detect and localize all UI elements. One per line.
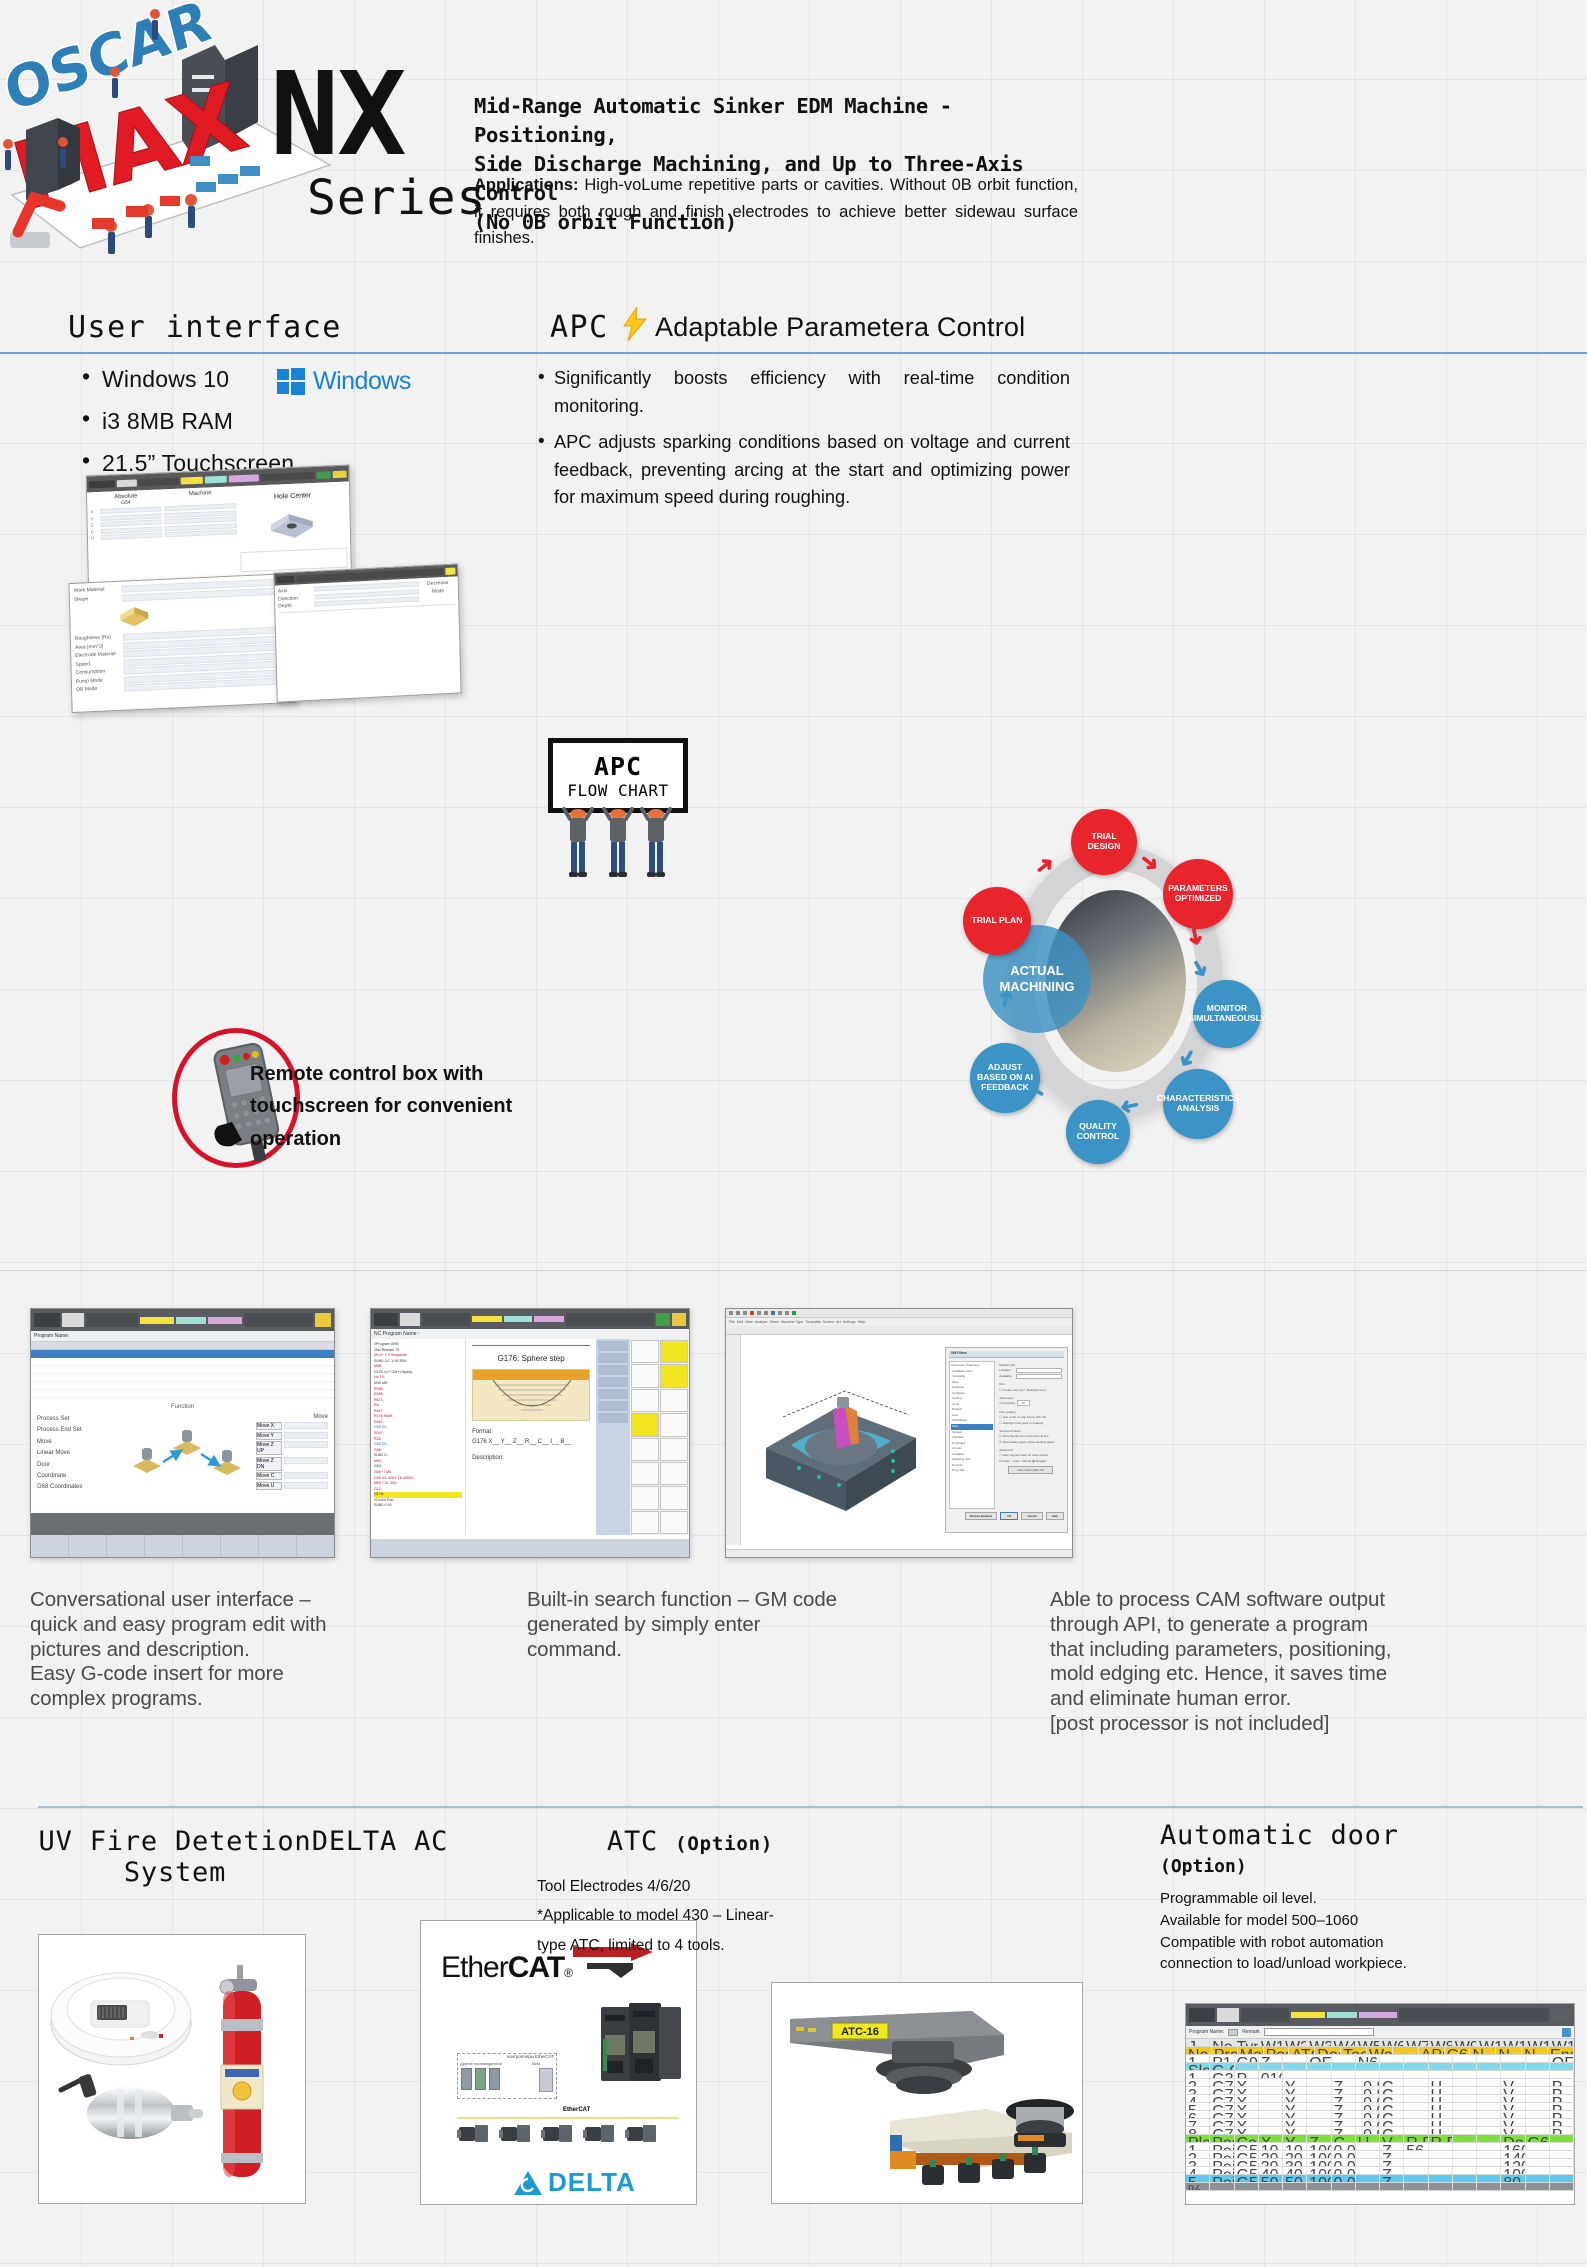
- machine-ui-screenshot-axis: AxisDecrease DirectionMode Depth: [273, 563, 461, 702]
- door-program-name-label: Program Name:: [1189, 2029, 1224, 2035]
- caption-3-line-1: Able to process CAM software output: [1050, 1588, 1570, 1613]
- divider-apc: [540, 352, 1587, 354]
- flow-node-trial-design: TRIAL DESIGN: [1071, 809, 1137, 875]
- door-remark-label: Remark: [1242, 2029, 1260, 2035]
- caption-2-line-3: command.: [527, 1638, 867, 1663]
- caption-1-line-1: Conversational user interface –: [30, 1588, 350, 1613]
- apc-flow-chart-sign: APC FLOW CHART: [548, 738, 688, 813]
- option-atc-notes: Tool Electrodes 4/6/20 *Applicable to mo…: [537, 1872, 827, 1960]
- option-automatic-door-notes: Programmable oil level. Available for mo…: [1160, 1888, 1580, 1975]
- option-title-atc: ATC (Option): [560, 1826, 820, 1857]
- flow-node-characteristics-analysis: CHARACTERISTICS ANALYSIS: [1163, 1069, 1233, 1139]
- spec-item-cpu-ram: i3 8MB RAM: [78, 408, 408, 435]
- section-heading-user-interface: User interface: [68, 310, 342, 345]
- remote-control-caption: Remote control box with touchscreen for …: [250, 1058, 550, 1155]
- option-atc-title: ATC: [607, 1826, 658, 1857]
- apc-bullet-2: APC adjusts sparking conditions based on…: [536, 429, 1070, 513]
- brochure-page: OSCAR MAX: [0, 0, 1587, 2267]
- apc-sign-line-1: APC: [594, 752, 642, 781]
- topology-right-label: Beta: [532, 2061, 554, 2066]
- divider-bottom: [38, 1806, 1583, 1808]
- windows-logo-label: Windows: [313, 367, 411, 396]
- format-value: G176 X__ Y__ Z__ R__ C__ I__ B__: [472, 1439, 590, 1445]
- option-atc-option-tag: (Option): [675, 1833, 773, 1855]
- caption-3-line-6: [post processor is not included]: [1050, 1712, 1570, 1737]
- machine-ui-screenshot-params: Work Material Shape Roughness [Ra] Area …: [69, 573, 297, 713]
- apc-subtitle: Adaptable Parametera Control: [655, 312, 1025, 343]
- ethercat-registered-mark: ®: [564, 1966, 572, 1980]
- applications-label: Applications:: [474, 176, 579, 194]
- feature-caption-3: Able to process CAM software output thro…: [1050, 1588, 1570, 1737]
- section-heading-apc: APC: [550, 310, 609, 345]
- applications-paragraph: Applications: High-voLume repetitive par…: [474, 172, 1078, 252]
- caption-2-line-2: generated by simply enter: [527, 1613, 867, 1638]
- windows-logo: Windows: [277, 367, 411, 396]
- ethercat-logo-part-a: Ether: [441, 1951, 508, 1984]
- machine-label: Machine: [164, 489, 236, 498]
- flow-node-trial-plan: TRIAL PLAN: [963, 887, 1031, 955]
- program-name-label: Program Name:: [34, 1333, 69, 1339]
- screenshot-content: Absolute G54 X Y Z C U Machine: [87, 482, 351, 582]
- delta-ethercat-image: EtherCAT® контроллеры EtherCAT Другие пр…: [420, 1920, 697, 2205]
- delta-logo: DELTA: [513, 2167, 636, 2198]
- lightning-bolt-icon: [622, 307, 648, 346]
- feature-caption-2: Built-in search function – GM code gener…: [527, 1588, 867, 1662]
- apc-bullet-list: Significantly boosts efficiency with rea…: [536, 365, 1070, 520]
- feature-screenshot-cam-software: File Edit View Analyze Xform Machine Typ…: [725, 1308, 1073, 1558]
- uv-fire-detection-image: [38, 1934, 306, 2204]
- format-label: Format:: [472, 1429, 590, 1435]
- hole-center-title: Hole Center: [239, 491, 346, 502]
- option-atc-line-1: Tool Electrodes 4/6/20: [537, 1872, 827, 1901]
- caption-2-line-1: Built-in search function – GM code: [527, 1588, 867, 1613]
- flow-node-monitor-simultaneously: MONITOR SIMULTANEOUSLY: [1193, 980, 1261, 1048]
- servo-motors-row: [457, 2121, 659, 2145]
- caption-1-line-4: Easy G-code insert for more: [30, 1662, 350, 1687]
- apc-bullet-1: Significantly boosts efficiency with rea…: [536, 365, 1070, 421]
- caption-3-line-5: and eliminate human error.: [1050, 1687, 1570, 1712]
- caption-3-line-4: mold edging etc. Hence, it saves time: [1050, 1662, 1570, 1687]
- option-door-line-4: connection to load/unload workpiece.: [1160, 1953, 1580, 1975]
- flow-center-line-1: ACTUAL: [1010, 963, 1063, 979]
- apc-sign-line-2: FLOW CHART: [567, 781, 668, 800]
- caption-3-line-2: through API, to generate a program: [1050, 1613, 1570, 1638]
- caption-1-line-3: pictures and description.: [30, 1638, 350, 1663]
- series-subtitle: Series: [307, 170, 486, 226]
- automatic-door-screenshot: Program Name: Remark JNoTypeW1W2 W3W4W5W…: [1185, 2003, 1575, 2205]
- option-door-line-2: Available for model 500–1060: [1160, 1910, 1580, 1932]
- feature-caption-1: Conversational user interface – quick an…: [30, 1588, 350, 1712]
- workers-illustration: [560, 805, 680, 885]
- description-label: Description:: [472, 1455, 590, 1461]
- option-title-delta-ac: DELTA AC: [230, 1826, 530, 1857]
- divider-mid: [0, 1270, 1587, 1271]
- feature-screenshot-conversational-ui: Program Name: Function Process SetProces…: [30, 1308, 335, 1558]
- topology-left-label: Другие производители: [460, 2061, 530, 2066]
- apc-flow-wheel: ACTUAL MACHINING TRIAL PLAN TRIAL DESIGN…: [1008, 845, 1223, 1115]
- option-door-line-3: Compatible with robot automation: [1160, 1932, 1580, 1954]
- option-atc-line-2: *Applicable to model 430 – Linear-: [537, 1901, 827, 1930]
- caption-3-line-3: that including parameters, positioning,: [1050, 1638, 1570, 1663]
- option-uv-title-line-2: System: [10, 1857, 340, 1888]
- svg-text:ATC-16: ATC-16: [841, 2026, 879, 2038]
- option-automatic-door-option-tag: (Option): [1160, 1856, 1247, 1877]
- windows-icon: [277, 368, 305, 395]
- feature-screenshot-search-function: NC Program Name : //Program 0090 //No Re…: [370, 1308, 690, 1558]
- page-title: NX: [270, 58, 404, 173]
- option-door-line-1: Programmable oil level.: [1160, 1888, 1580, 1910]
- atc-tool-changer-image: ATC-16: [771, 1982, 1083, 2204]
- option-atc-line-3: type ATC, limited to 4 tools.: [537, 1931, 827, 1960]
- g-code-dialog-title: G176: Sphere step: [472, 1354, 590, 1363]
- flow-node-parameters-optimized: PARAMETERS OPTIMIZED: [1163, 859, 1233, 929]
- delta-brand-label: DELTA: [548, 2167, 636, 2198]
- delta-triangle-icon: [513, 2170, 543, 2196]
- program-table: JNoTypeW1W2 W3W4W5W6W7 W8W9W10W11W12W13 …: [1186, 2039, 1574, 2191]
- headline-line-1: Mid-Range Automatic Sinker EDM Machine -…: [474, 92, 1084, 150]
- caption-1-line-5: complex programs.: [30, 1687, 350, 1712]
- caption-1-line-2: quick and easy program edit with: [30, 1613, 350, 1638]
- servo-drive-image: [599, 2003, 685, 2085]
- option-title-automatic-door: Automatic door: [1160, 1820, 1580, 1851]
